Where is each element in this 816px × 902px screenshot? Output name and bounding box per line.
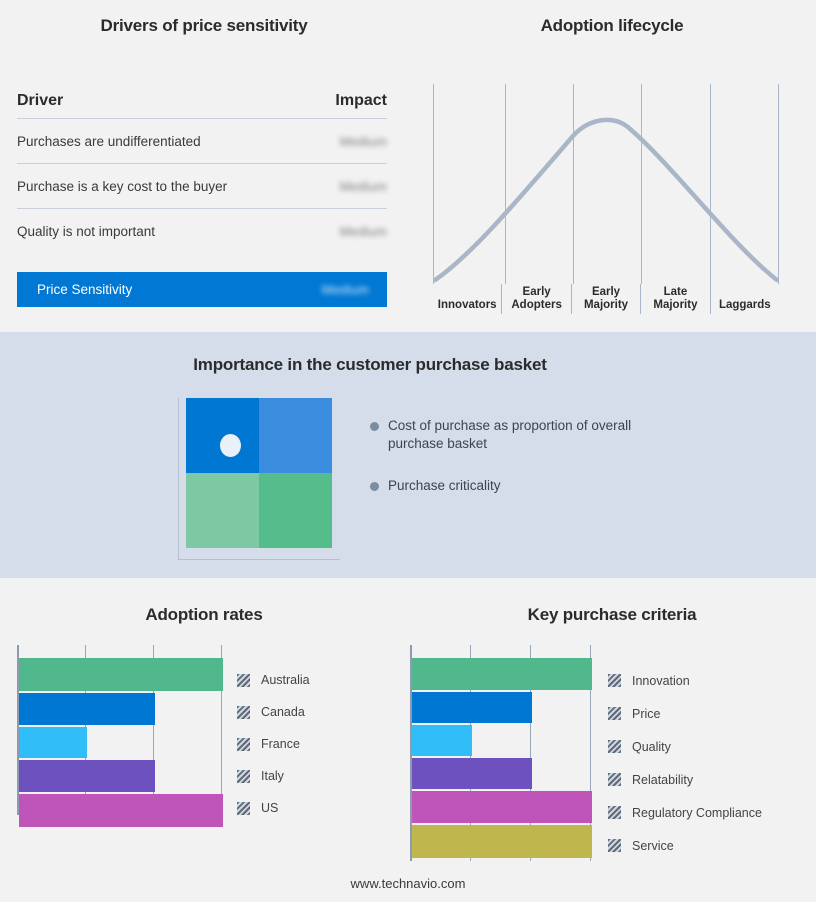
bullet-icon [370,482,379,491]
matrix-y-axis [178,398,179,560]
segment-line2: Adopters [511,299,561,312]
hatch-swatch-icon [237,674,250,687]
adoption-legend: Australia Canada France Italy US [237,664,310,824]
lifecycle-segment-innovators: Innovators [433,284,502,314]
adoption-rates-panel-title: Adoption rates [0,605,408,625]
legend-item-canada: Canada [237,696,310,728]
impact-value: Medium [340,224,387,239]
matrix-quadrant-bottom-right [259,473,332,548]
hatch-swatch-icon [608,674,621,687]
table-row: Purchases are undifferentiated Medium [17,119,387,164]
drivers-table-header: Driver Impact [17,92,387,119]
column-header-impact: Impact [335,92,387,110]
list-item: Cost of purchase as proportion of overal… [370,417,670,453]
legend-item-relatability: Relatability [608,763,762,796]
list-item: Purchase criticality [370,477,670,495]
legend-item-service: Service [608,829,762,862]
purchase-basket-matrix [178,398,340,560]
footer-url: www.technavio.com [0,876,816,891]
drivers-panel: Drivers of price sensitivity Driver Impa… [0,0,408,332]
adoption-bell-curve [433,84,779,284]
legend-label: Price [632,707,660,721]
basket-legend-label: Cost of purchase as proportion of overal… [388,417,670,453]
drivers-panel-title: Drivers of price sensitivity [0,16,408,36]
legend-label: Service [632,839,674,853]
legend-item-italy: Italy [237,760,310,792]
legend-label: US [261,801,278,815]
table-row: Quality is not important Medium [17,209,387,253]
legend-label: Canada [261,705,305,719]
bar-us [19,794,223,827]
legend-item-france: France [237,728,310,760]
adoption-rates-chart: Australia Canada France Italy US [17,645,407,825]
column-header-driver: Driver [17,92,63,110]
price-sensitivity-label: Price Sensitivity [37,282,132,297]
matrix-x-axis [178,559,340,560]
legend-item-innovation: Innovation [608,664,762,697]
lifecycle-segment-laggards: Laggards [711,284,779,314]
bar-innovation [412,658,592,690]
legend-label: France [261,737,300,751]
bar-regulatory-compliance [412,791,592,823]
segment-line1: Late [664,286,688,299]
lifecycle-segment-labels: Innovators Early Adopters Early Majority… [433,284,779,314]
drivers-table: Driver Impact Purchases are undifferenti… [17,92,387,253]
infographic-page: Drivers of price sensitivity Driver Impa… [0,0,816,902]
legend-label: Australia [261,673,310,687]
position-marker-icon [220,434,241,457]
lifecycle-segment-late-majority: Late Majority [641,284,710,314]
bullet-icon [370,422,379,431]
hatch-swatch-icon [608,740,621,753]
key-criteria-panel-title: Key purchase criteria [408,605,816,625]
segment-line2: Laggards [719,299,771,312]
matrix-quadrant-top-left [186,398,259,473]
bar-france [19,727,87,758]
matrix-quadrant-bottom-left [186,473,259,548]
bar-canada [19,693,155,725]
impact-value: Medium [340,179,387,194]
legend-label: Quality [632,740,671,754]
hatch-swatch-icon [608,707,621,720]
legend-item-us: US [237,792,310,824]
hatch-swatch-icon [237,802,250,815]
legend-label: Regulatory Compliance [632,806,762,820]
basket-legend: Cost of purchase as proportion of overal… [370,417,670,519]
driver-label: Purchases are undifferentiated [17,134,201,149]
criteria-plot-area [410,645,592,861]
hatch-swatch-icon [608,773,621,786]
segment-line1: Early [523,286,551,299]
hatch-swatch-icon [608,839,621,852]
hatch-swatch-icon [237,738,250,751]
segment-line1: Early [592,286,620,299]
lifecycle-panel-title: Adoption lifecycle [408,16,816,36]
bar-quality [412,725,472,756]
legend-label: Italy [261,769,284,783]
hatch-swatch-icon [237,706,250,719]
legend-item-regulatory-compliance: Regulatory Compliance [608,796,762,829]
lifecycle-segment-early-adopters: Early Adopters [502,284,571,314]
legend-item-price: Price [608,697,762,730]
key-criteria-chart: Innovation Price Quality Relatability Re… [410,645,810,865]
segment-line2: Innovators [438,299,497,312]
table-row: Purchase is a key cost to the buyer Medi… [17,164,387,209]
matrix-quadrant-top-right [259,398,332,473]
basket-panel-title: Importance in the customer purchase bask… [0,355,740,375]
impact-value: Medium [340,134,387,149]
bar-australia [19,658,223,691]
price-sensitivity-impact: Medium [322,282,369,297]
criteria-legend: Innovation Price Quality Relatability Re… [608,664,762,862]
adoption-plot-area [17,645,223,815]
hatch-swatch-icon [608,806,621,819]
driver-label: Quality is not important [17,224,155,239]
segment-line2: Majority [584,299,628,312]
basket-legend-label: Purchase criticality [388,477,501,495]
price-sensitivity-summary-row: Price Sensitivity Medium [17,272,387,307]
legend-label: Innovation [632,674,690,688]
bar-price [412,692,532,723]
matrix-quadrants [186,398,332,548]
bar-service [412,825,592,858]
lifecycle-segment-early-majority: Early Majority [572,284,641,314]
hatch-swatch-icon [237,770,250,783]
legend-item-quality: Quality [608,730,762,763]
driver-label: Purchase is a key cost to the buyer [17,179,227,194]
bar-relatability [412,758,532,789]
legend-label: Relatability [632,773,693,787]
legend-item-australia: Australia [237,664,310,696]
bar-italy [19,760,155,792]
segment-line2: Majority [653,299,697,312]
